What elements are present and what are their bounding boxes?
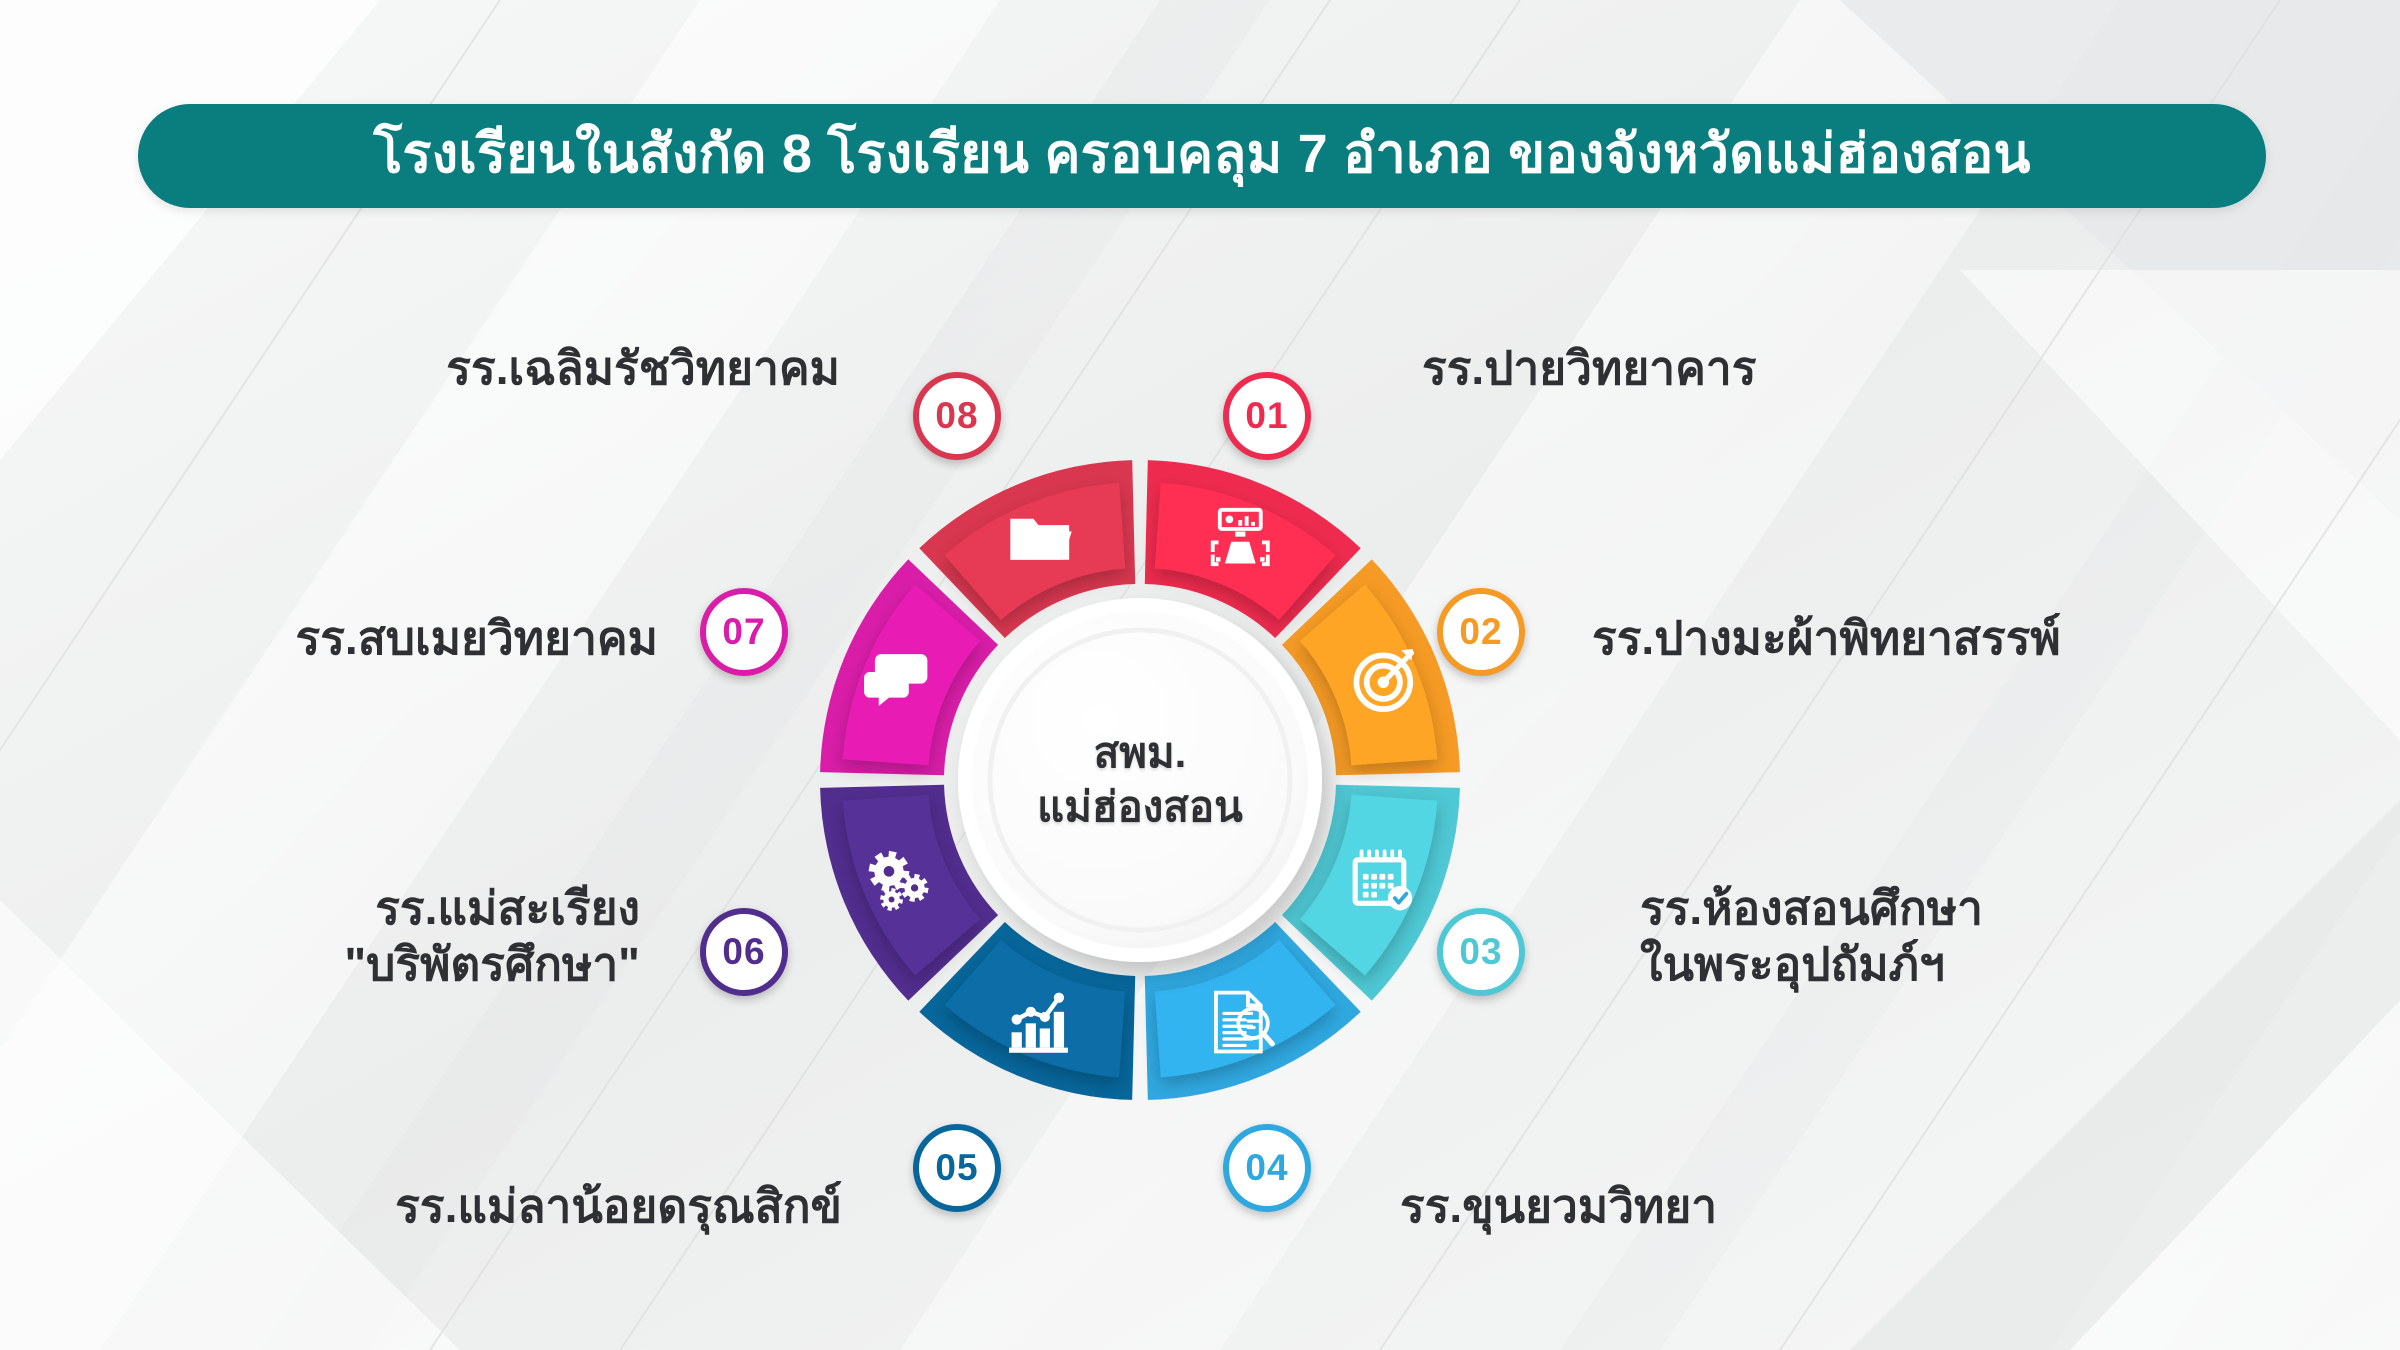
segment-number-05: 05: [935, 1149, 978, 1188]
segment-badge-08[interactable]: 08: [913, 372, 1001, 460]
segment-label-06: รร.แม่สะเรียง "บริพัตรศึกษา": [344, 880, 640, 992]
segment-badge-03[interactable]: 03: [1437, 908, 1525, 996]
segment-label-05: รร.แม่ลาน้อยดรุณสิกข์: [395, 1178, 842, 1234]
segment-number-04: 04: [1245, 1149, 1288, 1188]
segment-label-03: รร.ห้องสอนศึกษา ในพระอุปถัมภ์ฯ: [1640, 880, 1983, 992]
segment-label-03-line2: ในพระอุปถัมภ์ฯ: [1640, 936, 1983, 992]
segment-badge-05[interactable]: 05: [913, 1124, 1001, 1212]
segment-label-04-line1: รร.ขุนยวมวิทยา: [1400, 1178, 1717, 1234]
segment-number-02: 02: [1459, 613, 1502, 652]
page-title-bar: โรงเรียนในสังกัด 8 โรงเรียน ครอบคลุม 7 อ…: [138, 104, 2266, 208]
center-disc: [958, 598, 1322, 962]
donut-wheel-svg: [690, 330, 1590, 1230]
segment-label-05-line1: รร.แม่ลาน้อยดรุณสิกข์: [395, 1178, 842, 1234]
segment-label-07-line1: รร.สบเมยวิทยาคม: [296, 610, 659, 666]
segment-label-04: รร.ขุนยวมวิทยา: [1400, 1178, 1717, 1234]
segment-label-01: รร.ปายวิทยาคาร: [1422, 340, 1756, 396]
segment-label-08: รร.เฉลิมรัชวิทยาคม: [446, 340, 840, 396]
segment-label-01-line1: รร.ปายวิทยาคาร: [1422, 340, 1756, 396]
segment-label-06-line2: "บริพัตรศึกษา": [344, 936, 640, 992]
segment-label-08-line1: รร.เฉลิมรัชวิทยาคม: [446, 340, 840, 396]
segment-badge-01[interactable]: 01: [1223, 372, 1311, 460]
segment-badge-04[interactable]: 04: [1223, 1124, 1311, 1212]
segment-badge-02[interactable]: 02: [1437, 588, 1525, 676]
segment-label-06-line1: รร.แม่สะเรียง: [344, 880, 640, 936]
segment-number-08: 08: [935, 397, 978, 436]
segment-label-03-line1: รร.ห้องสอนศึกษา: [1640, 880, 1983, 936]
segment-number-01: 01: [1245, 397, 1288, 436]
segment-badge-06[interactable]: 06: [700, 908, 788, 996]
segment-label-07: รร.สบเมยวิทยาคม: [296, 610, 659, 666]
segment-number-06: 06: [722, 933, 765, 972]
segment-number-07: 07: [722, 613, 765, 652]
segment-label-02-line1: รร.ปางมะผ้าพิทยาสรรพ์: [1592, 610, 2061, 666]
segment-label-02: รร.ปางมะผ้าพิทยาสรรพ์: [1592, 610, 2061, 666]
donut-wheel: [690, 330, 1590, 1230]
segment-number-03: 03: [1459, 933, 1502, 972]
segment-badge-07[interactable]: 07: [700, 588, 788, 676]
page-title: โรงเรียนในสังกัด 8 โรงเรียน ครอบคลุม 7 อ…: [373, 127, 2030, 185]
